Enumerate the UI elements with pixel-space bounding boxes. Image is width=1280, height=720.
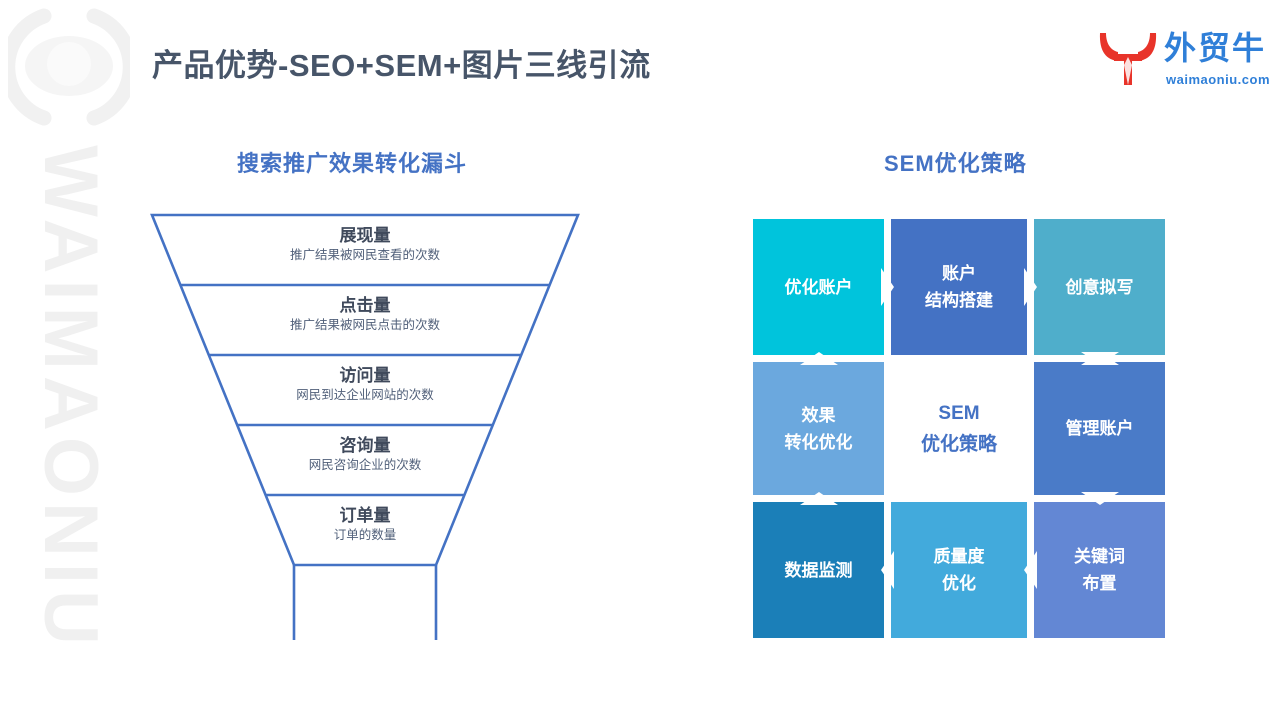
- sem-cell-label: 账户 结构搭建: [925, 260, 993, 314]
- funnel-stage-desc: 订单的数量: [150, 527, 580, 544]
- funnel-section-heading: 搜索推广效果转化漏斗: [237, 146, 467, 178]
- sem-cell-label: 数据监测: [785, 557, 853, 584]
- sem-cell-optimize-account[interactable]: 优化账户: [753, 219, 884, 355]
- sem-cell-label: 关键词 布置: [1074, 543, 1125, 597]
- logo-brand-name: 外贸牛: [1164, 28, 1266, 68]
- sem-cell-label: 管理账户: [1066, 415, 1134, 442]
- funnel-outline: [140, 200, 590, 650]
- sem-strategy-grid: 优化账户 账户 结构搭建 创意拟写 效果 转化优化 SEM 优化策略 管理账户 …: [753, 219, 1165, 638]
- funnel-stage-desc: 网民咨询企业的次数: [150, 457, 580, 474]
- sem-cell-label: 效果 转化优化: [785, 402, 853, 456]
- watermark: WAIMAONIU: [0, 0, 140, 720]
- funnel-stage-title: 展现量: [150, 226, 580, 246]
- sem-cell-center-title: SEM 优化策略: [891, 362, 1027, 495]
- logo-domain: waimaoniu.com: [1166, 72, 1270, 87]
- sem-cell-label: 创意拟写: [1066, 274, 1134, 301]
- funnel-stage-title: 订单量: [150, 506, 580, 526]
- bull-horns-icon: [1096, 30, 1160, 86]
- sem-cell-creative-writing[interactable]: 创意拟写: [1034, 219, 1165, 355]
- sem-cell-label: 质量度 优化: [934, 543, 985, 597]
- funnel-stage: 点击量 推广结果被网民点击的次数: [150, 296, 580, 334]
- sem-cell-keyword-layout[interactable]: 关键词 布置: [1034, 502, 1165, 638]
- sem-section-heading: SEM优化策略: [884, 146, 1027, 178]
- watermark-text: WAIMAONIU: [32, 98, 108, 698]
- funnel-stage-title: 点击量: [150, 296, 580, 316]
- funnel-stage-title: 咨询量: [150, 436, 580, 456]
- funnel-stage: 展现量 推广结果被网民查看的次数: [150, 226, 580, 264]
- brand-logo: 外贸牛 waimaoniu.com: [1096, 26, 1264, 98]
- sem-cell-account-structure[interactable]: 账户 结构搭建: [891, 219, 1027, 355]
- sem-cell-label: 优化账户: [785, 274, 853, 301]
- funnel-stage-title: 访问量: [150, 366, 580, 386]
- funnel-stage: 咨询量 网民咨询企业的次数: [150, 436, 580, 474]
- sem-cell-conversion-optimization[interactable]: 效果 转化优化: [753, 362, 884, 495]
- conversion-funnel-chart: 展现量 推广结果被网民查看的次数 点击量 推广结果被网民点击的次数 访问量 网民…: [140, 200, 590, 650]
- sem-center-label: SEM 优化策略: [921, 398, 997, 460]
- funnel-stage: 订单量 订单的数量: [150, 506, 580, 544]
- sem-cell-quality-optimization[interactable]: 质量度 优化: [891, 502, 1027, 638]
- funnel-stage-desc: 推广结果被网民查看的次数: [150, 247, 580, 264]
- page-title: 产品优势-SEO+SEM+图片三线引流: [152, 40, 651, 85]
- funnel-stage-desc: 推广结果被网民点击的次数: [150, 317, 580, 334]
- funnel-stage-desc: 网民到达企业网站的次数: [150, 387, 580, 404]
- circle-emblem-icon: [8, 8, 130, 126]
- sem-cell-data-monitoring[interactable]: 数据监测: [753, 502, 884, 638]
- funnel-stage: 访问量 网民到达企业网站的次数: [150, 366, 580, 404]
- sem-cell-manage-account[interactable]: 管理账户: [1034, 362, 1165, 495]
